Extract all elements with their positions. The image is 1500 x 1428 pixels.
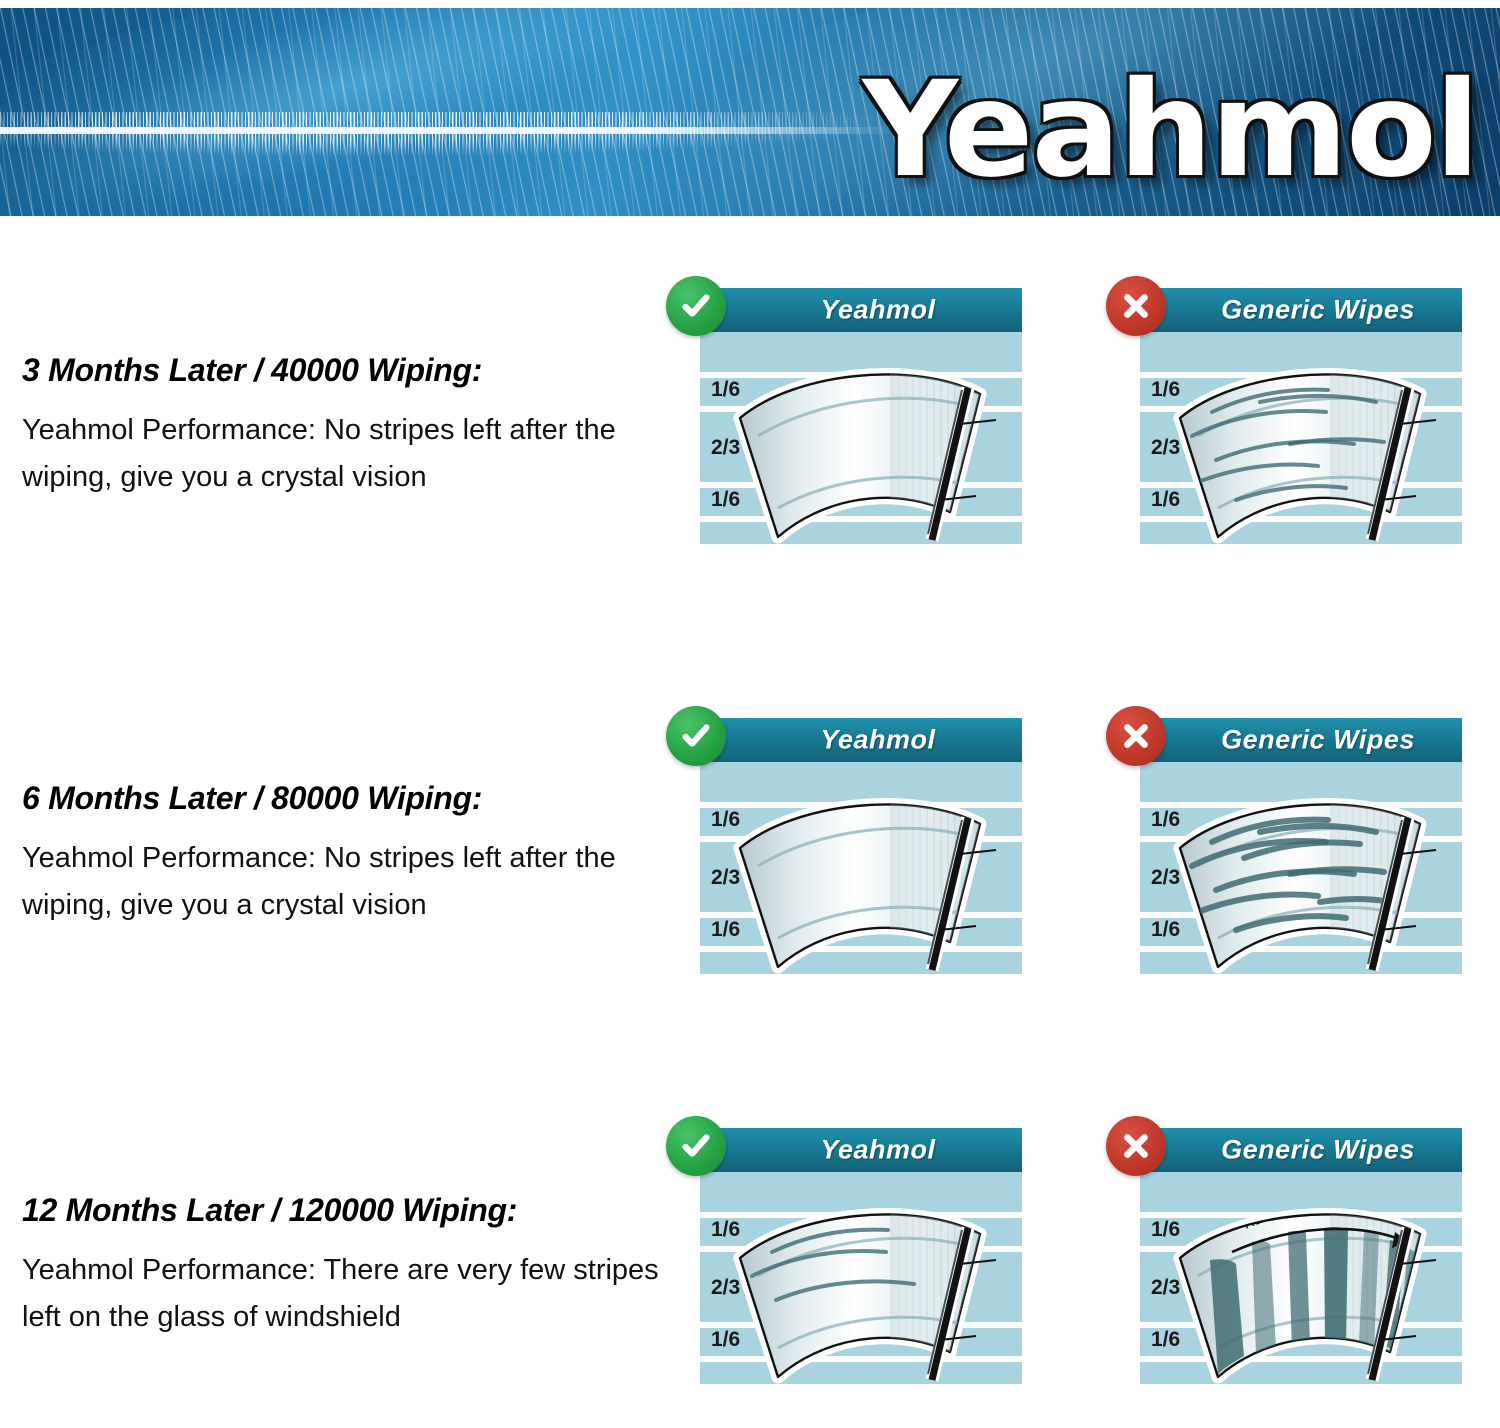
scale-label-top: 1/6: [1151, 378, 1180, 402]
check-circle-icon: [666, 706, 726, 766]
scale-label-top: 1/6: [1151, 1218, 1180, 1242]
windshield-diagram: [700, 332, 1022, 544]
brand-wordmark: Yeahmol: [862, 64, 1478, 196]
windshield-diagram: Rallerrattcrralle: [1140, 1172, 1462, 1384]
cross-icon: [1117, 1127, 1155, 1165]
windshield-diagram: [700, 762, 1022, 974]
panel-body-bad: 1/6 2/3 1/6: [1140, 332, 1462, 544]
row-heading: 3 Months Later / 40000 Wiping:: [22, 352, 672, 389]
panel-body-bad: 1/6 2/3 1/6: [1140, 762, 1462, 974]
comparison-panel-good: Yeahmol 1/6 2/3 1/6: [700, 288, 1022, 544]
scale-label-bottom: 1/6: [711, 918, 740, 942]
windshield-diagram: [700, 1172, 1022, 1384]
windshield-diagram: [1140, 762, 1462, 974]
scale-label-middle: 2/3: [711, 866, 740, 890]
smear-wedge: [1324, 1227, 1348, 1344]
streak-mark: [1320, 899, 1390, 902]
row-text-block-3: 12 Months Later / 120000 Wiping: Yeahmol…: [22, 1192, 672, 1341]
cross-icon: [1117, 287, 1155, 325]
scale-label-bottom: 1/6: [1151, 1328, 1180, 1352]
scale-label-top: 1/6: [1151, 808, 1180, 832]
panel-body-good: 1/6 2/3 1/6: [700, 1172, 1022, 1384]
waveform-baseline: [0, 127, 900, 134]
scale-label-top: 1/6: [711, 378, 740, 402]
row-description: Yeahmol Performance: No stripes left aft…: [22, 835, 672, 929]
check-circle-icon: [666, 276, 726, 336]
glass-illustration-bad: [1140, 762, 1462, 974]
comparison-row-3: 12 Months Later / 120000 Wiping: Yeahmol…: [0, 1128, 1500, 1428]
windshield-diagram: [1140, 332, 1462, 544]
glass-illustration-bad: Rallerrattcrralle: [1140, 1172, 1462, 1384]
row-heading: 12 Months Later / 120000 Wiping:: [22, 1192, 672, 1229]
panel-header-good: Yeahmol: [700, 288, 1022, 332]
x-circle-icon: [1106, 1116, 1166, 1176]
check-icon: [677, 717, 715, 755]
scale-label-bottom: 1/6: [1151, 918, 1180, 942]
comparison-row-2: 6 Months Later / 80000 Wiping: Yeahmol P…: [0, 718, 1500, 1018]
glass-illustration-bad: [1140, 332, 1462, 544]
panel-body-good: 1/6 2/3 1/6: [700, 332, 1022, 544]
comparison-panel-good: Yeahmol 1/6 2/3 1/6: [700, 1128, 1022, 1384]
check-icon: [677, 287, 715, 325]
panel-title-good: Yeahmol: [700, 1135, 1022, 1166]
panel-header-bad: Generic Wipes: [1140, 1128, 1462, 1172]
comparison-panel-bad: Generic Wipes 1/6 2/3 1/6: [1140, 288, 1462, 544]
panel-header-good: Yeahmol: [700, 718, 1022, 762]
check-circle-icon: [666, 1116, 726, 1176]
panel-header-bad: Generic Wipes: [1140, 718, 1462, 762]
scale-label-middle: 2/3: [711, 1276, 740, 1300]
comparison-panel-bad: Generic Wipes 1/6 2/3 1/6: [1140, 1128, 1462, 1384]
panel-title-good: Yeahmol: [700, 725, 1022, 756]
panel-body-bad: 1/6 2/3 1/6: [1140, 1172, 1462, 1384]
panel-header-good: Yeahmol: [700, 1128, 1022, 1172]
scale-label-top: 1/6: [711, 1218, 740, 1242]
scale-label-bottom: 1/6: [1151, 488, 1180, 512]
comparison-panel-good: Yeahmol 1/6 2/3 1/6: [700, 718, 1022, 974]
glass-illustration-good: [700, 1172, 1022, 1384]
x-circle-icon: [1106, 276, 1166, 336]
panel-title-bad: Generic Wipes: [1140, 1135, 1462, 1166]
scale-label-middle: 2/3: [711, 436, 740, 460]
row-description: Yeahmol Performance: There are very few …: [22, 1247, 672, 1341]
scale-label-bottom: 1/6: [711, 1328, 740, 1352]
row-text-block-2: 6 Months Later / 80000 Wiping: Yeahmol P…: [22, 780, 672, 929]
panel-header-bad: Generic Wipes: [1140, 288, 1462, 332]
panel-title-bad: Generic Wipes: [1140, 295, 1462, 326]
glass-illustration-good: [700, 332, 1022, 544]
brand-banner: Yeahmol: [0, 8, 1500, 216]
scale-label-middle: 2/3: [1151, 866, 1180, 890]
x-circle-icon: [1106, 706, 1166, 766]
row-text-block-1: 3 Months Later / 40000 Wiping: Yeahmol P…: [22, 352, 672, 501]
row-heading: 6 Months Later / 80000 Wiping:: [22, 780, 672, 817]
comparison-panel-bad: Generic Wipes 1/6 2/3 1/6: [1140, 718, 1462, 974]
scale-label-middle: 2/3: [1151, 436, 1180, 460]
panel-title-bad: Generic Wipes: [1140, 725, 1462, 756]
panel-title-good: Yeahmol: [700, 295, 1022, 326]
scale-label-bottom: 1/6: [711, 488, 740, 512]
scale-label-top: 1/6: [711, 808, 740, 832]
cross-icon: [1117, 717, 1155, 755]
panel-body-good: 1/6 2/3 1/6: [700, 762, 1022, 974]
check-icon: [677, 1127, 715, 1165]
row-description: Yeahmol Performance: No stripes left aft…: [22, 407, 672, 501]
glass-illustration-good: [700, 762, 1022, 974]
scale-label-middle: 2/3: [1151, 1276, 1180, 1300]
comparison-row-1: 3 Months Later / 40000 Wiping: Yeahmol P…: [0, 288, 1500, 588]
